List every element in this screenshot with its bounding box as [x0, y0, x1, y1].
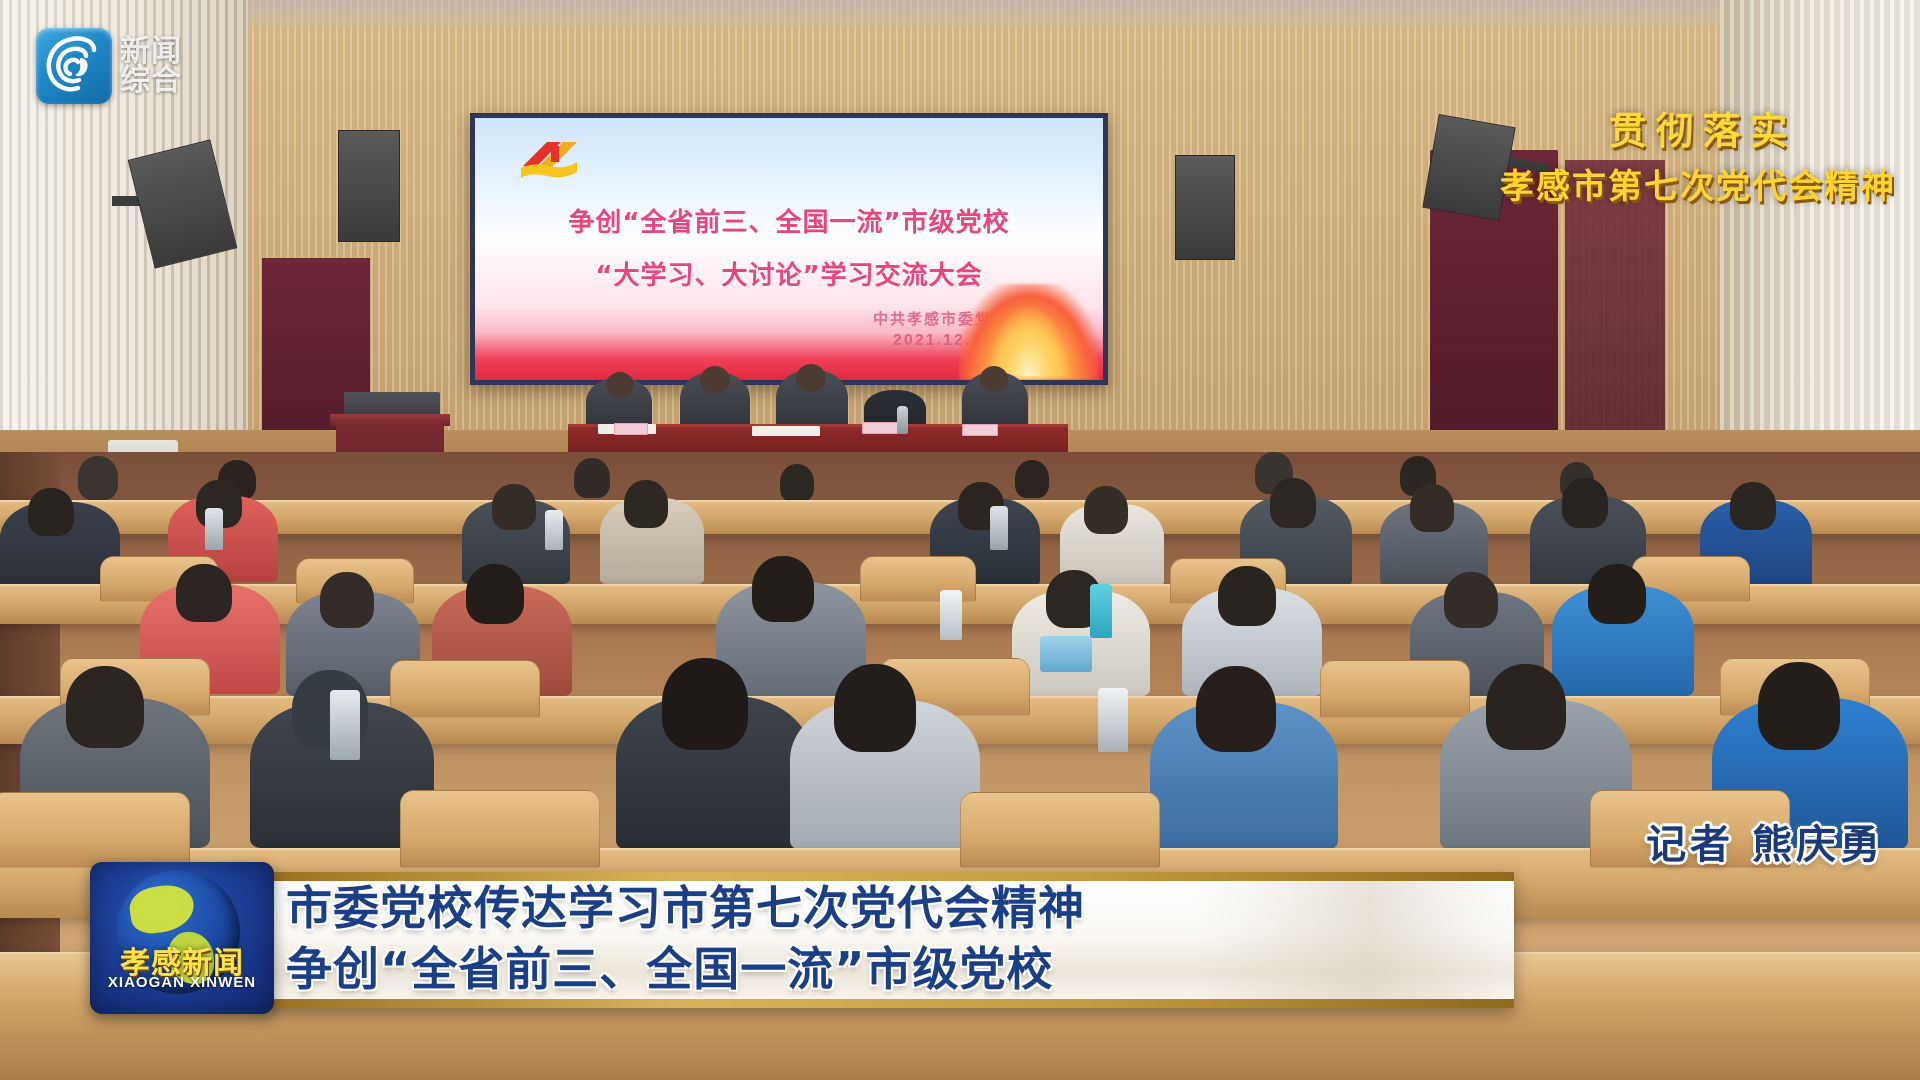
slogan-line1: 贯彻落实 [1500, 100, 1896, 155]
lower-third: 市委党校传达学习市第七次党代会精神 争创“全省前三、全国一流”市级党校 孝感新闻… [90, 872, 1514, 1008]
nameplate-3 [962, 424, 998, 436]
headline-line-1: 市委党校传达学习市第七次党代会精神 [286, 878, 1516, 939]
attendee-head [1730, 482, 1776, 530]
attendee-head [624, 480, 668, 528]
attendee-head [834, 664, 916, 752]
attendee-head [66, 666, 144, 748]
attendee-head [1758, 662, 1840, 750]
official-1-head [606, 372, 634, 398]
program-badge: 孝感新闻 XIAOGAN XINWEN [90, 862, 274, 1014]
screen-flame-highlight [989, 306, 1069, 376]
broadcast-frame: 争创“全省前三、全国一流”市级党校 “大学习、大讨论”学习交流大会 中共孝感市委… [0, 0, 1920, 1080]
thermos-bottle [205, 508, 223, 550]
swirl-logo-icon [36, 28, 112, 104]
seat-back [0, 792, 190, 868]
attendee-head [320, 572, 374, 628]
official-5-head [980, 366, 1008, 392]
attendee-head [574, 458, 610, 498]
screen-title-line1: 争创“全省前三、全国一流”市级党校 [475, 202, 1103, 239]
attendee-head [1562, 478, 1608, 528]
official-2-head [700, 366, 730, 394]
campaign-slogan: 贯彻落实 孝感市第七次党代会精神 [1500, 100, 1896, 208]
nameplate-1 [614, 423, 648, 435]
slogan-line2: 孝感市第七次党代会精神 [1500, 159, 1896, 208]
attendee-head [78, 456, 118, 500]
attendee-head [1218, 566, 1276, 626]
reporter-credit: 记者 熊庆勇 [1646, 812, 1884, 870]
attendee-head [1015, 460, 1049, 498]
thermos-bottle [330, 690, 360, 760]
lower-third-headline: 市委党校传达学习市第七次党代会精神 争创“全省前三、全国一流”市级党校 [286, 878, 1516, 1000]
channel-bug-line2: 综合 [120, 66, 182, 95]
attendee-head [1444, 572, 1498, 628]
program-name-en: XIAOGAN XINWEN [90, 974, 274, 991]
headline-line-2: 争创“全省前三、全国一流”市级党校 [286, 939, 1516, 1000]
tablet-device [1040, 636, 1092, 672]
thermos-bottle [1090, 584, 1112, 638]
attendee-head [1196, 666, 1276, 752]
ccp-party-emblem-icon [513, 132, 589, 188]
attendee-head [1486, 664, 1566, 750]
attendee-head [1084, 486, 1128, 534]
attendee-head [466, 564, 524, 624]
official-3-head [796, 364, 826, 392]
channel-bug-text: 新闻 综合 [120, 37, 182, 96]
thermos-bottle [545, 510, 563, 550]
attendee-head [662, 658, 748, 750]
ceiling-strip [0, 0, 1920, 26]
seat-back [390, 660, 540, 718]
nameplate-2 [862, 422, 898, 434]
attendee-head [176, 564, 232, 622]
seat-back [1320, 660, 1470, 718]
wall-speaker-2 [338, 130, 400, 242]
thermos-bottle [1098, 688, 1128, 752]
thermos-bottle [990, 506, 1008, 550]
attendee-head [1410, 484, 1454, 532]
attendee-head [1588, 564, 1646, 624]
attendee-head [28, 488, 74, 536]
seat-back [960, 792, 1160, 868]
attendee-head [752, 556, 814, 622]
projection-screen: 争创“全省前三、全国一流”市级党校 “大学习、大讨论”学习交流大会 中共孝感市委… [470, 113, 1108, 385]
channel-bug: 新闻 综合 [36, 28, 182, 104]
thermos-bottle [940, 590, 962, 640]
channel-bug-line1: 新闻 [120, 37, 182, 66]
attendee-head [492, 484, 536, 530]
attendee-head [1270, 478, 1316, 528]
wall-speaker-3 [1175, 155, 1235, 260]
seat-back [400, 790, 600, 868]
water-bottle-table [897, 406, 908, 434]
attendee-head [780, 464, 814, 502]
document-2 [752, 426, 820, 436]
